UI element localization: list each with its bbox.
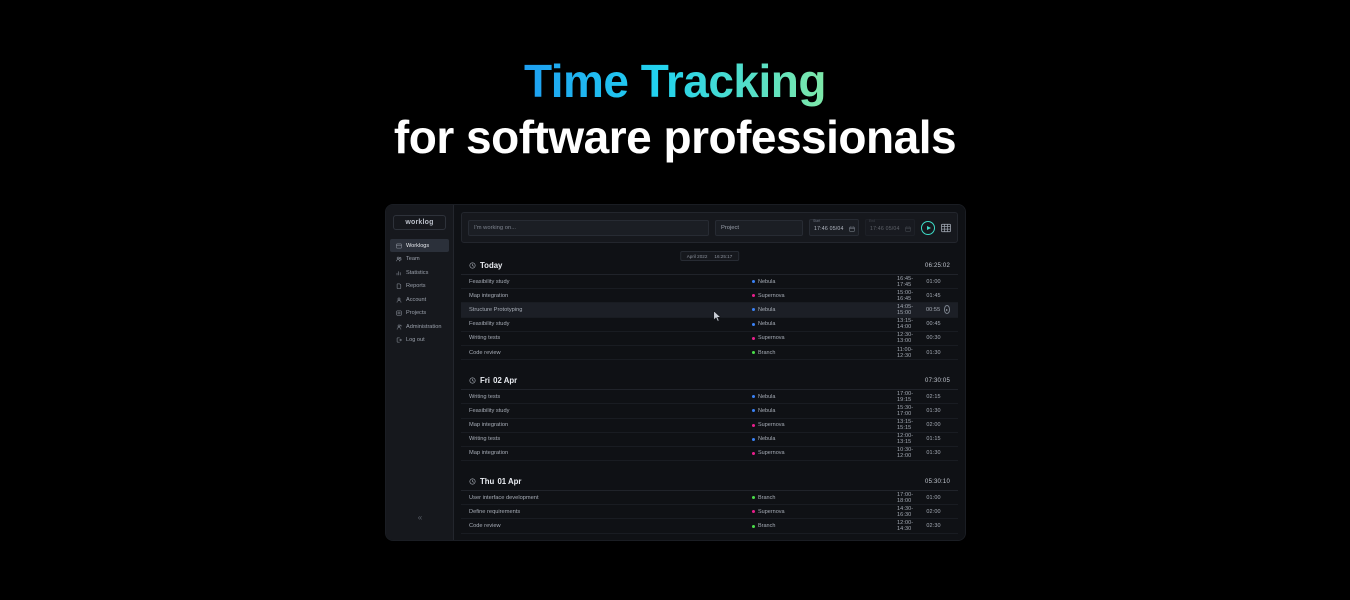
start-datetime-field[interactable]: Start 17:46 05/04 xyxy=(809,219,859,236)
worklog-project-name: Supernova xyxy=(758,509,785,515)
worklog-time-range: 12:00-14:30 xyxy=(897,520,926,532)
sidebar-item-label: Administration xyxy=(406,324,441,330)
worklog-project-name: Nebula xyxy=(758,321,775,327)
start-field-value: 17:46 05/04 xyxy=(814,226,844,232)
task-input-placeholder: I'm working on... xyxy=(474,225,516,231)
sidebar-item-label: Log out xyxy=(406,337,425,343)
worklog-project: Nebula xyxy=(752,394,897,400)
worklog-time-range: 12:30-13:00 xyxy=(897,332,926,344)
headline-line-1: Time Tracking xyxy=(524,52,826,110)
worklog-task-name: Writing tests xyxy=(469,436,752,442)
worklog-project-name: Branch xyxy=(758,523,775,529)
start-field-label: Start xyxy=(813,219,820,223)
day-header[interactable]: Today06:25:02 xyxy=(461,257,958,275)
worklog-row[interactable]: Writing testsSupernova12:30-13:0000:30 xyxy=(461,332,958,346)
worklog-row[interactable]: Writing testsNebula17:00-19:1502:15 xyxy=(461,390,958,404)
project-color-dot xyxy=(752,308,755,311)
worklog-duration: 01:45 xyxy=(926,293,944,299)
worklog-time-range: 17:00-19:15 xyxy=(897,391,926,403)
day-group: Thu 01 Apr05:30:10User interface develop… xyxy=(461,473,958,534)
sidebar-item-log-out[interactable]: Log out xyxy=(390,334,449,347)
worklog-task-name: Structure Prototyping xyxy=(469,307,752,313)
reports-icon xyxy=(396,283,402,289)
row-action-placeholder xyxy=(944,348,950,357)
day-total: 06:25:02 xyxy=(925,263,950,269)
mouse-cursor xyxy=(713,310,722,323)
worklog-time-range: 14:05-15:00 xyxy=(897,304,926,316)
worklog-project: Nebula xyxy=(752,321,897,327)
project-color-dot xyxy=(752,337,755,340)
worklog-task-name: Define requirements xyxy=(469,509,752,515)
project-color-dot xyxy=(752,510,755,513)
worklog-project: Supernova xyxy=(752,509,897,515)
row-action-placeholder xyxy=(944,277,950,286)
worklog-project: Supernova xyxy=(752,450,897,456)
worklog-row[interactable]: Map integrationSupernova13:15-15:1502:00 xyxy=(461,419,958,433)
worklog-duration: 01:00 xyxy=(926,495,944,501)
team-icon xyxy=(396,256,402,262)
worklog-project-name: Supernova xyxy=(758,293,785,299)
worklog-project-name: Supernova xyxy=(758,450,785,456)
worklog-project-name: Nebula xyxy=(758,408,775,414)
end-field-value: 17:46 05/04 xyxy=(870,226,900,232)
row-action-placeholder xyxy=(944,449,950,458)
worklog-time-range: 13:15-14:00 xyxy=(897,318,926,330)
play-icon xyxy=(927,226,931,230)
worklog-row[interactable]: Structure PrototypingNebula14:05-15:0000… xyxy=(461,303,958,317)
worklog-time-range: 14:30-16:30 xyxy=(897,506,926,518)
day-date: 01 Apr xyxy=(497,477,521,486)
row-action-placeholder xyxy=(944,507,950,516)
headline: Time Tracking for software professionals xyxy=(0,52,1350,164)
row-action-placeholder xyxy=(944,406,950,415)
project-color-dot xyxy=(752,496,755,499)
worklog-row[interactable]: Code reviewBranch11:00-12:3001:30 xyxy=(461,346,958,360)
sidebar: worklog WorklogsTeamStatisticsReportsAcc… xyxy=(386,205,454,540)
worklog-time-range: 15:30-17:00 xyxy=(897,405,926,417)
worklog-duration: 00:30 xyxy=(926,335,944,341)
worklog-time-range: 11:00-12:30 xyxy=(897,347,926,359)
worklog-duration: 02:30 xyxy=(926,523,944,529)
worklog-project: Supernova xyxy=(752,422,897,428)
app-window: worklog WorklogsTeamStatisticsReportsAcc… xyxy=(386,205,965,540)
worklog-project-name: Supernova xyxy=(758,335,785,341)
worklog-project: Branch xyxy=(752,495,897,501)
project-select[interactable]: Project xyxy=(715,220,803,236)
worklog-duration: 00:55 xyxy=(926,307,944,313)
worklog-row[interactable]: Feasibility studyNebula13:15-14:0000:45 xyxy=(461,318,958,332)
row-action-placeholder xyxy=(944,435,950,444)
day-total: 05:30:10 xyxy=(925,479,950,485)
day-title: Fri 02 Apr xyxy=(480,376,517,385)
sidebar-item-worklogs[interactable]: Worklogs xyxy=(390,239,449,252)
clock-icon xyxy=(469,377,476,384)
worklog-task-name: Writing tests xyxy=(469,394,752,400)
sidebar-item-label: Reports xyxy=(406,283,426,289)
row-start-timer-button[interactable] xyxy=(944,305,950,314)
worklog-duration: 02:00 xyxy=(926,509,944,515)
row-action-placeholder xyxy=(944,291,950,300)
sidebar-item-account[interactable]: Account xyxy=(390,293,449,306)
worklog-task-name: Code review xyxy=(469,350,752,356)
worklog-project-name: Nebula xyxy=(758,436,775,442)
worklog-task-name: Feasibility study xyxy=(469,279,752,285)
play-icon xyxy=(946,309,948,311)
project-color-dot xyxy=(752,438,755,441)
worklog-list[interactable]: Today06:25:02Feasibility studyNebula16:4… xyxy=(461,257,958,534)
worklog-task-name: Map integration xyxy=(469,293,752,299)
calendar-icon[interactable] xyxy=(849,226,855,232)
worklog-time-range: 10:30-12:00 xyxy=(897,447,926,459)
logout-icon xyxy=(396,337,402,343)
worklog-duration: 01:30 xyxy=(926,408,944,414)
worklog-row[interactable]: User interface developmentBranch17:00-18… xyxy=(461,491,958,505)
main-panel: I'm working on... Project Start 17:46 05… xyxy=(454,205,965,540)
timer-toolbar: I'm working on... Project Start 17:46 05… xyxy=(461,212,958,243)
sidebar-nav: WorklogsTeamStatisticsReportsAccountProj… xyxy=(386,239,453,347)
worklog-task-name: Feasibility study xyxy=(469,321,752,327)
app-logo: worklog xyxy=(393,215,446,230)
day-weekday: Fri xyxy=(480,376,490,385)
worklog-row[interactable]: Map integrationSupernova10:30-12:0001:30 xyxy=(461,447,958,461)
start-timer-button[interactable] xyxy=(921,221,935,235)
row-action-placeholder xyxy=(944,421,950,430)
account-icon xyxy=(396,297,402,303)
end-datetime-field[interactable]: End 17:46 05/04 xyxy=(865,219,915,236)
headline-line-2: for software professionals xyxy=(0,110,1350,164)
row-action-placeholder xyxy=(944,522,950,531)
project-color-dot xyxy=(752,294,755,297)
worklog-project: Supernova xyxy=(752,293,897,299)
row-action-placeholder xyxy=(944,320,950,329)
day-date: 02 Apr xyxy=(493,376,517,385)
worklog-project-name: Nebula xyxy=(758,307,775,313)
sidebar-item-label: Account xyxy=(406,297,426,303)
day-title: Today xyxy=(480,261,502,270)
project-color-dot xyxy=(752,409,755,412)
day-total: 07:30:05 xyxy=(925,378,950,384)
administration-icon xyxy=(396,324,402,330)
worklog-project: Supernova xyxy=(752,335,897,341)
worklog-duration: 01:15 xyxy=(926,436,944,442)
day-date: Today xyxy=(480,261,502,270)
sidebar-item-label: Statistics xyxy=(406,270,428,276)
worklog-row[interactable]: Code reviewBranch12:00-14:3002:30 xyxy=(461,519,958,533)
worklogs-icon xyxy=(396,243,402,249)
projects-icon xyxy=(396,310,402,316)
day-header[interactable]: Fri 02 Apr07:30:05 xyxy=(461,372,958,390)
worklog-time-range: 17:00-18:00 xyxy=(897,492,926,504)
day-group: Fri 02 Apr07:30:05Writing testsNebula17:… xyxy=(461,372,958,461)
worklog-duration: 01:00 xyxy=(926,279,944,285)
worklog-time-range: 12:00-13:15 xyxy=(897,433,926,445)
sidebar-collapse-button[interactable]: « xyxy=(386,513,454,522)
worklog-project: Branch xyxy=(752,523,897,529)
row-action-placeholder xyxy=(944,493,950,502)
app-logo-text: worklog xyxy=(405,219,433,226)
worklog-project-name: Nebula xyxy=(758,279,775,285)
sidebar-item-statistics[interactable]: Statistics xyxy=(390,266,449,279)
worklog-project-name: Branch xyxy=(758,350,775,356)
worklog-project: Branch xyxy=(752,350,897,356)
row-action-placeholder xyxy=(944,334,950,343)
grid-icon xyxy=(941,223,951,233)
worklog-time-range: 15:00-16:45 xyxy=(897,290,926,302)
worklog-row[interactable]: Feasibility studyNebula15:30-17:0001:30 xyxy=(461,404,958,418)
row-action-placeholder xyxy=(944,392,950,401)
project-color-dot xyxy=(752,351,755,354)
project-color-dot xyxy=(752,395,755,398)
worklog-duration: 02:00 xyxy=(926,422,944,428)
worklog-project: Nebula xyxy=(752,436,897,442)
worklog-duration: 00:45 xyxy=(926,321,944,327)
worklog-task-name: Writing tests xyxy=(469,335,752,341)
project-color-dot xyxy=(752,323,755,326)
worklog-time-range: 16:45-17:45 xyxy=(897,276,926,288)
worklog-row[interactable]: Writing testsNebula12:00-13:1501:15 xyxy=(461,433,958,447)
worklog-project: Nebula xyxy=(752,279,897,285)
worklog-row[interactable]: Feasibility studyNebula16:45-17:4501:00 xyxy=(461,275,958,289)
worklog-task-name: Feasibility study xyxy=(469,408,752,414)
day-header[interactable]: Thu 01 Apr05:30:10 xyxy=(461,473,958,491)
worklog-row[interactable]: Map integrationSupernova15:00-16:4501:45 xyxy=(461,289,958,303)
sidebar-item-administration[interactable]: Administration xyxy=(390,320,449,333)
project-color-dot xyxy=(752,280,755,283)
end-field-label: End xyxy=(869,219,875,223)
sidebar-item-reports[interactable]: Reports xyxy=(390,280,449,293)
worklog-duration: 02:15 xyxy=(926,394,944,400)
worklog-duration: 01:30 xyxy=(926,450,944,456)
project-color-dot xyxy=(752,452,755,455)
day-group: Today06:25:02Feasibility studyNebula16:4… xyxy=(461,257,958,360)
worklog-project-name: Branch xyxy=(758,495,775,501)
worklog-project-name: Nebula xyxy=(758,394,775,400)
worklog-project-name: Supernova xyxy=(758,422,785,428)
project-color-dot xyxy=(752,424,755,427)
sidebar-item-label: Projects xyxy=(406,310,426,316)
project-select-value: Project xyxy=(721,225,739,231)
worklog-time-range: 13:15-15:15 xyxy=(897,419,926,431)
task-description-input[interactable]: I'm working on... xyxy=(468,220,709,236)
sidebar-item-label: Team xyxy=(406,256,420,262)
worklog-task-name: Map integration xyxy=(469,422,752,428)
clock-icon xyxy=(469,478,476,485)
grid-view-button[interactable] xyxy=(941,223,951,233)
worklog-duration: 01:30 xyxy=(926,350,944,356)
page-root: Time Tracking for software professionals… xyxy=(0,0,1350,600)
worklog-row[interactable]: Define requirementsSupernova14:30-16:300… xyxy=(461,505,958,519)
statistics-icon xyxy=(396,270,402,276)
calendar-icon[interactable] xyxy=(905,226,911,232)
day-title: Thu 01 Apr xyxy=(480,477,521,486)
project-color-dot xyxy=(752,525,755,528)
sidebar-item-projects[interactable]: Projects xyxy=(390,307,449,320)
sidebar-item-label: Worklogs xyxy=(406,243,429,249)
worklog-project: Nebula xyxy=(752,408,897,414)
day-weekday: Thu xyxy=(480,477,494,486)
worklog-task-name: Map integration xyxy=(469,450,752,456)
worklog-task-name: Code review xyxy=(469,523,752,529)
worklog-task-name: User interface development xyxy=(469,495,752,501)
worklog-project: Nebula xyxy=(752,307,897,313)
sidebar-item-team[interactable]: Team xyxy=(390,253,449,266)
clock-icon xyxy=(469,262,476,269)
